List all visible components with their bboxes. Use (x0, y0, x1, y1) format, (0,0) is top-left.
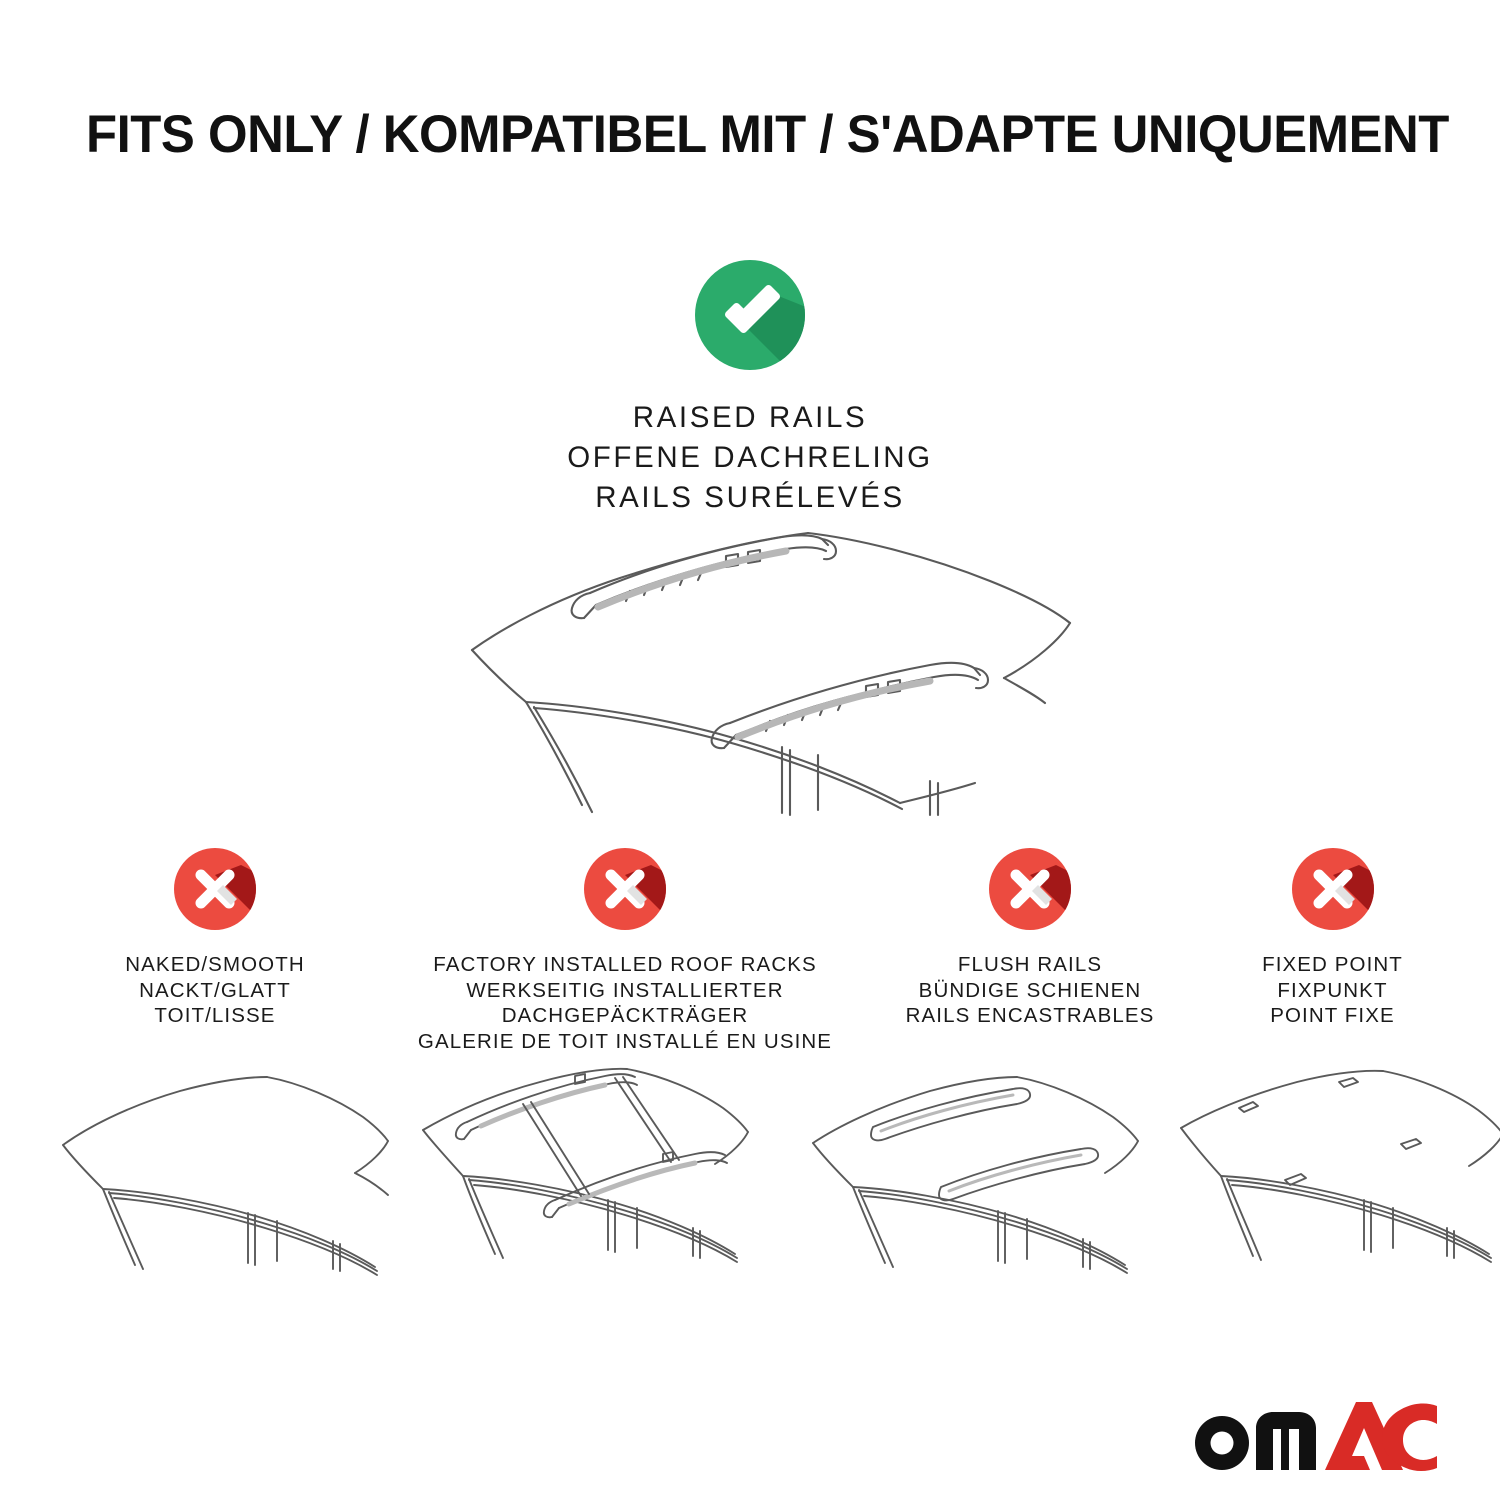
compatible-line-de: OFFENE DACHRELING (0, 438, 1500, 478)
caption-line-de: FIXPUNKT (1195, 978, 1470, 1004)
caption-line-en: FLUSH RAILS (855, 952, 1205, 978)
car-roof-flush-rails-illustration (795, 1065, 1150, 1280)
caption-line-en: FACTORY INSTALLED ROOF RACKS (400, 952, 850, 978)
incompatible-caption-naked-smooth: NAKED/SMOOTH NACKT/GLATT TOIT/LISSE (45, 952, 385, 1029)
caption-line-fr: POINT FIXE (1195, 1003, 1470, 1029)
cross-circle-icon (1289, 845, 1377, 933)
compatible-line-en: RAISED RAILS (0, 398, 1500, 438)
cross-circle-icon (986, 845, 1074, 933)
cross-circle-icon (171, 845, 259, 933)
compatibility-chart-page: FITS ONLY / KOMPATIBEL MIT / S'ADAPTE UN… (0, 0, 1500, 1500)
car-roof-naked-smooth-illustration (45, 1065, 395, 1280)
incompatible-item-factory-roof-racks: FACTORY INSTALLED ROOF RACKS WERKSEITIG … (400, 845, 850, 1054)
car-roof-fixed-point-illustration (1165, 1062, 1500, 1280)
incompatible-caption-flush-rails: FLUSH RAILS BÜNDIGE SCHIENEN RAILS ENCAS… (855, 952, 1205, 1029)
cross-circle-icon (581, 845, 669, 933)
car-roof-factory-roof-racks-illustration (405, 1058, 765, 1280)
logo-letter-o (1195, 1416, 1249, 1470)
caption-line-en: FIXED POINT (1195, 952, 1470, 978)
compatible-section: RAISED RAILS OFFENE DACHRELING RAILS SUR… (0, 255, 1500, 518)
caption-line-de: BÜNDIGE SCHIENEN (855, 978, 1205, 1004)
incompatible-caption-factory-roof-racks: FACTORY INSTALLED ROOF RACKS WERKSEITIG … (400, 952, 850, 1054)
caption-line-de-2: DACHGEPÄCKTRÄGER (400, 1003, 850, 1029)
caption-line-en: NAKED/SMOOTH (45, 952, 385, 978)
compatible-caption: RAISED RAILS OFFENE DACHRELING RAILS SUR… (0, 398, 1500, 518)
incompatible-item-fixed-point: FIXED POINT FIXPUNKT POINT FIXE (1195, 845, 1470, 1029)
caption-line-fr: TOIT/LISSE (45, 1003, 385, 1029)
incompatible-item-naked-smooth: NAKED/SMOOTH NACKT/GLATT TOIT/LISSE (45, 845, 385, 1029)
caption-line-de: NACKT/GLATT (45, 978, 385, 1004)
caption-line-fr: RAILS ENCASTRABLES (855, 1003, 1205, 1029)
incompatible-caption-fixed-point: FIXED POINT FIXPUNKT POINT FIXE (1195, 952, 1470, 1029)
incompatible-item-flush-rails: FLUSH RAILS BÜNDIGE SCHIENEN RAILS ENCAS… (855, 845, 1205, 1029)
check-circle-icon (690, 255, 810, 375)
logo-letter-m (1256, 1412, 1316, 1470)
omac-logo (1186, 1400, 1438, 1472)
caption-line-de-1: WERKSEITIG INSTALLIERTER (400, 978, 850, 1004)
page-title: FITS ONLY / KOMPATIBEL MIT / S'ADAPTE UN… (86, 105, 1372, 165)
caption-line-fr: GALERIE DE TOIT INSTALLÉ EN USINE (400, 1029, 850, 1055)
car-roof-raised-rails-illustration (430, 515, 1090, 820)
compatible-line-fr: RAILS SURÉLEVÉS (0, 478, 1500, 518)
